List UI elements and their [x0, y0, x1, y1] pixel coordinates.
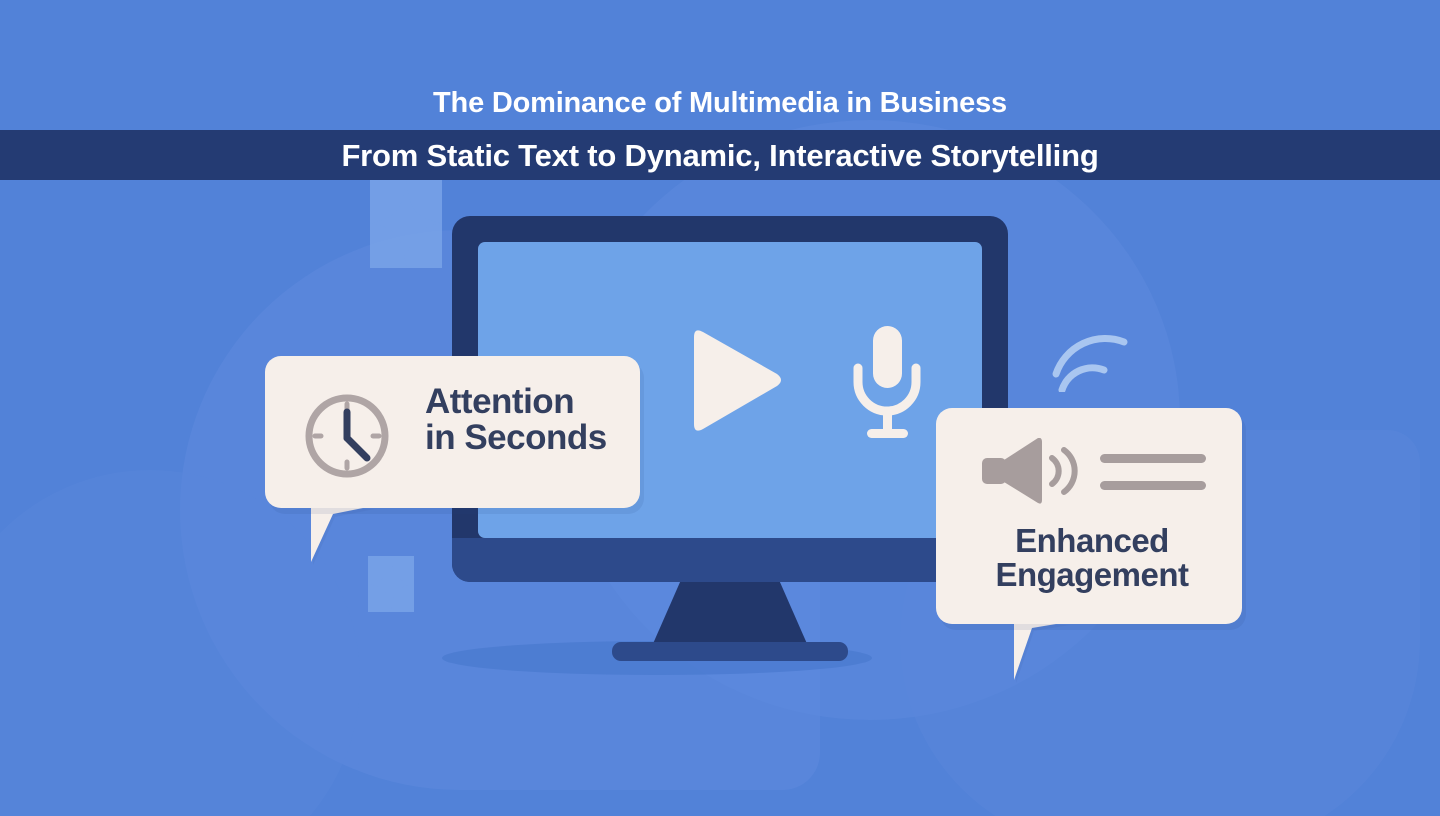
- page-title: The Dominance of Multimedia in Business: [0, 83, 1440, 123]
- sparkle-icon-small: [368, 556, 414, 612]
- sound-line-bottom: [1100, 481, 1206, 490]
- bubble-tail-engagement: [1014, 622, 1068, 680]
- monitor-stand-neck: [652, 582, 808, 646]
- monitor-stand-base: [612, 642, 848, 661]
- slide-canvas: The Dominance of Multimedia in Business …: [0, 0, 1440, 816]
- bubble-engagement-text: Enhanced Engagement: [952, 524, 1232, 593]
- microphone-icon[interactable]: [848, 326, 926, 438]
- bubble-attention[interactable]: Attention in Seconds: [265, 356, 640, 508]
- speaker-icon: [982, 438, 1082, 504]
- sound-line-top: [1100, 454, 1206, 463]
- bubble-engagement[interactable]: Enhanced Engagement: [936, 408, 1242, 624]
- bubble-engagement-line1: Enhanced: [952, 524, 1232, 558]
- sparkle-icon-large: [370, 178, 442, 268]
- page-subtitle: From Static Text to Dynamic, Interactive…: [0, 137, 1440, 175]
- wifi-arcs-icon: [1050, 328, 1140, 392]
- bubble-attention-text: Attention in Seconds: [425, 384, 635, 457]
- bubble-attention-line2: in Seconds: [425, 420, 635, 456]
- bubble-attention-line1: Attention: [425, 384, 635, 420]
- sound-lines-group: [1100, 454, 1206, 490]
- bubble-tail-attention: [311, 506, 373, 562]
- play-icon[interactable]: [684, 327, 784, 435]
- bubble-engagement-line2: Engagement: [952, 558, 1232, 592]
- clock-icon: [301, 390, 393, 482]
- monitor-chin: [452, 538, 1008, 582]
